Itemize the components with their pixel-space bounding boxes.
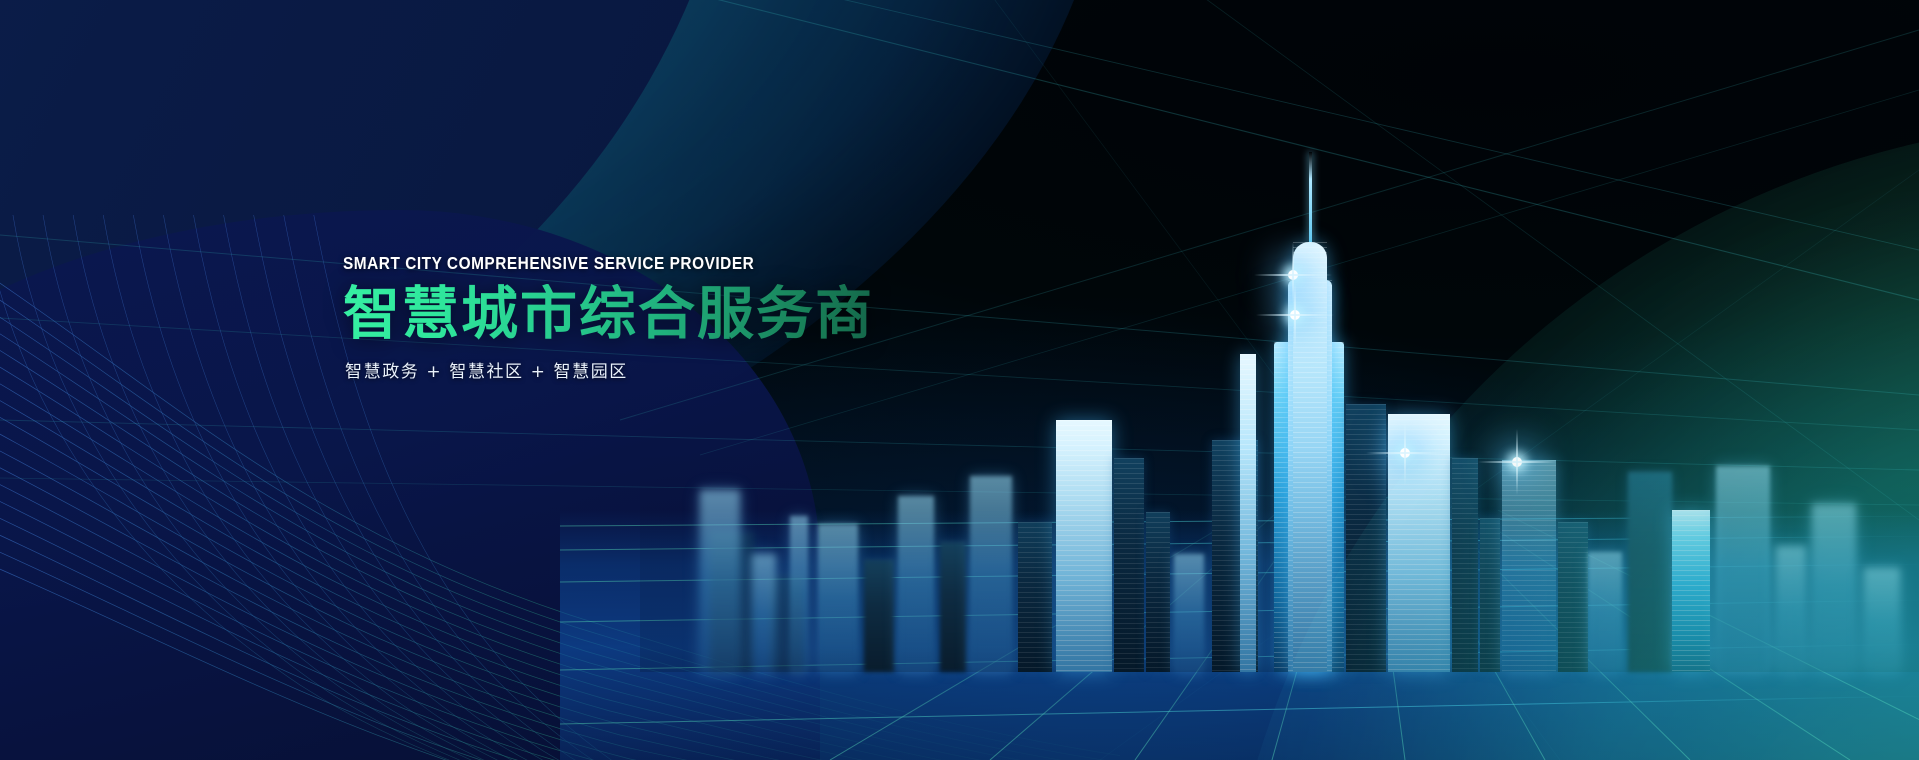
lens-flare-2 — [1290, 310, 1300, 320]
building-slab-2 — [752, 554, 776, 672]
building-slab-3 — [790, 516, 808, 672]
hero-tower-spire — [1309, 152, 1312, 242]
building-slab-9 — [1018, 522, 1052, 672]
lens-flare-1 — [1288, 270, 1298, 280]
hero-eyebrow: SMART CITY COMPREHENSIVE SERVICE PROVIDE… — [343, 253, 810, 274]
building-slab-8 — [970, 476, 1012, 672]
hero-headline: 智慧城市综合服务商 — [343, 284, 874, 344]
building-mid-4 — [1174, 554, 1204, 672]
building-mid-1 — [1056, 420, 1112, 672]
hero-banner: SMART CITY COMPREHENSIVE SERVICE PROVIDE… — [0, 0, 1919, 760]
building-slab-1 — [700, 490, 740, 672]
building-slab-5 — [864, 560, 894, 672]
building-mid-3 — [1146, 512, 1170, 672]
building-mid-6 — [1240, 354, 1256, 672]
building-slab-7 — [940, 542, 966, 672]
building-slab-4 — [818, 524, 858, 672]
hero-subline: 智慧政务 + 智慧社区 + 智慧园区 — [345, 357, 874, 382]
building-mid-2 — [1114, 458, 1144, 672]
building-slab-6 — [898, 496, 934, 672]
hero-copy-block: SMART CITY COMPREHENSIVE SERVICE PROVIDE… — [343, 253, 874, 382]
lens-flare-3 — [1400, 448, 1410, 458]
